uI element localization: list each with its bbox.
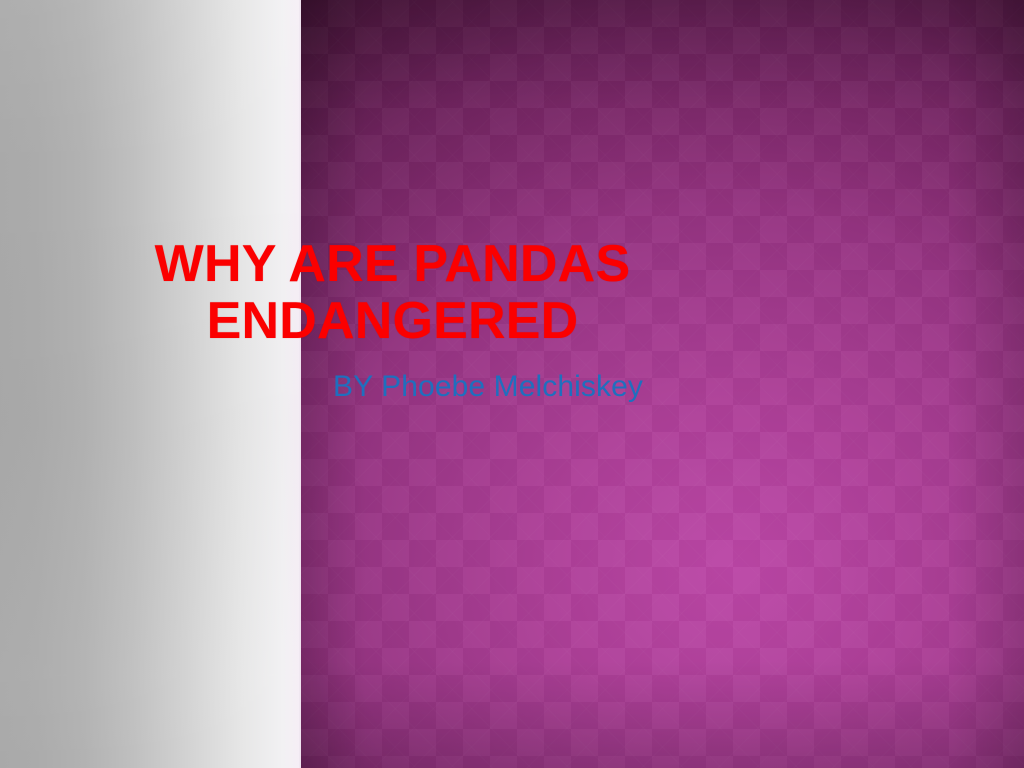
title-text-block: WHY ARE PANDAS ENDANGERED BY Phoebe Melc… xyxy=(140,236,645,405)
slide-subtitle-author: BY Phoebe Melchiskey xyxy=(140,370,645,405)
slide-title: WHY ARE PANDAS ENDANGERED xyxy=(140,236,645,350)
slide-title-line-2: ENDANGERED xyxy=(140,293,645,350)
slide-title-line-1: WHY ARE PANDAS xyxy=(140,236,645,293)
title-slide: WHY ARE PANDAS ENDANGERED BY Phoebe Melc… xyxy=(0,0,1024,768)
